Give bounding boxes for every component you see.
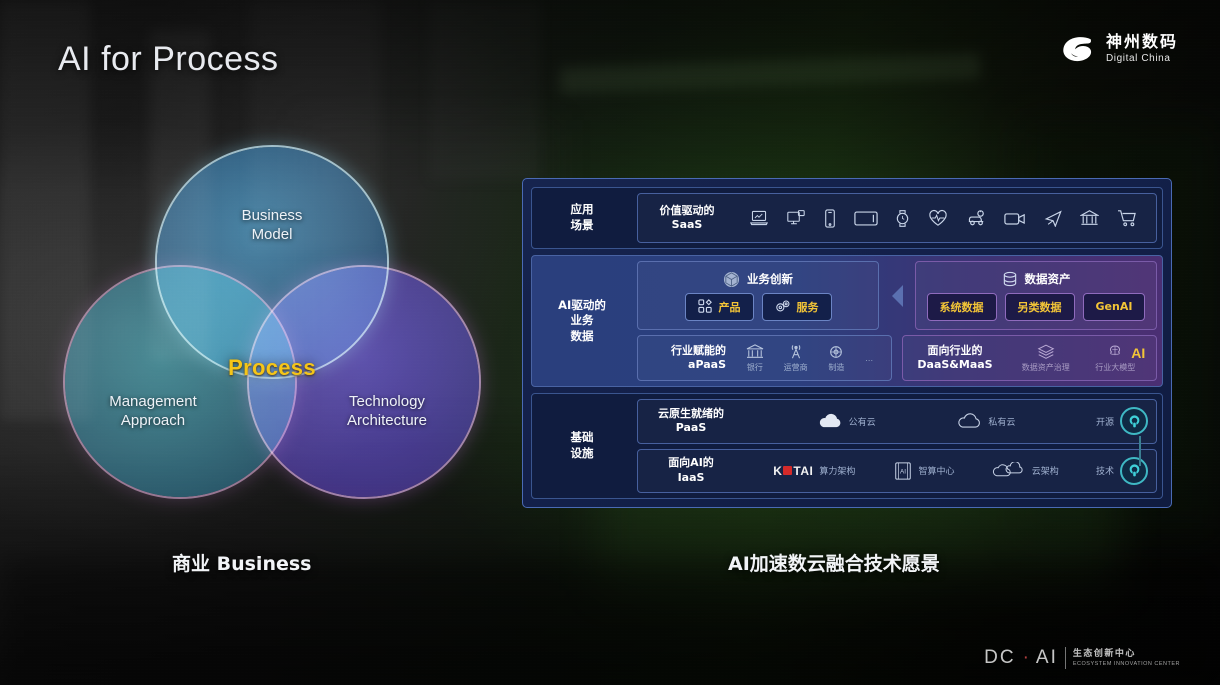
venn-label-technology-architecture: TechnologyArchitecture	[312, 393, 462, 431]
daas-maas-row: 面向行业的 DaaS&MaaS 数据资产治理	[902, 335, 1157, 381]
industry-manufacturing: 制造	[827, 344, 845, 373]
saas-row: 价值驱动的 SaaS	[637, 193, 1157, 243]
open-source-tail: 开源	[1096, 407, 1148, 435]
paas-title: 云原生就绪的 PaaS	[646, 407, 736, 436]
band-label-infrastructure: 基础 设施	[532, 394, 632, 498]
saas-row-title: 价值驱动的 SaaS	[648, 204, 726, 233]
heart-pulse-icon	[928, 209, 948, 227]
svg-text:AI: AI	[900, 468, 906, 475]
smartphone-icon	[824, 209, 836, 228]
ai-rack-icon: AI	[893, 461, 913, 481]
flow-arrow-icon	[889, 261, 905, 330]
caption-business: 商业 Business	[172, 549, 311, 576]
video-camera-icon	[1004, 211, 1026, 226]
band-application-scenarios: 应用 场景 价值驱动的 SaaS	[531, 187, 1163, 249]
industry-telecom: 运营商	[784, 344, 808, 373]
bank-building-icon	[1080, 209, 1099, 227]
gears-icon	[775, 299, 791, 314]
apaas-title: 行业赋能的 aPaaS	[646, 344, 726, 373]
business-innovation-header: 业务创新	[723, 271, 793, 288]
venn-label-process: Process	[192, 355, 352, 381]
footer-dc: DC	[984, 647, 1015, 669]
laptop-chart-icon	[749, 209, 769, 227]
signal-tower-icon	[787, 344, 805, 360]
footer-dot: ·	[1023, 647, 1029, 669]
multi-cloud-icon	[992, 462, 1026, 480]
brand-logo: 神州数码 Digital China	[1061, 34, 1178, 66]
chip-system-data[interactable]: 系统数据	[927, 293, 997, 321]
iaas-title: 面向AI的 IaaS	[646, 456, 736, 485]
openeuler-connector	[1139, 436, 1141, 466]
llm-ai-accent: AI	[1131, 345, 1145, 361]
footer-ai: AI	[1036, 647, 1058, 669]
footer-cn: 生态创新中心	[1073, 649, 1180, 659]
swirl-logo-icon	[1061, 34, 1097, 66]
brand-name-cn: 神州数码	[1106, 35, 1178, 52]
business-innovation-block: 业务创新 产品	[637, 261, 879, 330]
car-vehicle-icon	[966, 209, 987, 227]
desktop-monitor-icon	[786, 209, 806, 227]
kutai-logo-icon: KTAI	[773, 464, 813, 478]
tablet-icon	[854, 210, 878, 227]
iaas-row: 面向AI的 IaaS KTAI 算力架构	[637, 449, 1157, 494]
chip-service[interactable]: 服务	[762, 293, 832, 321]
cloud-filled-icon	[817, 413, 843, 430]
footer-divider	[1065, 647, 1066, 669]
private-cloud-item: 私有云	[956, 413, 1015, 430]
paas-row: 云原生就绪的 PaaS 公有云	[637, 399, 1157, 444]
layers-stack-icon	[1036, 343, 1056, 360]
venn-label-business-model: BusinessModel	[212, 207, 332, 245]
chip-alternative-data[interactable]: 另类数据	[1005, 293, 1075, 321]
apaas-row: 行业赋能的 aPaaS 银行	[637, 335, 892, 381]
manufacturing-gear-icon	[827, 344, 845, 360]
data-assets-header: 数据资产	[1002, 271, 1071, 288]
industry-bank: 银行	[746, 344, 764, 373]
data-assets-block: 数据资产 系统数据 另类数据 GenAI	[915, 261, 1157, 330]
brand-name-en: Digital China	[1106, 54, 1178, 65]
footer-logo: DC · AI 生态创新中心 ECOSYSTEM INNOVATION CENT…	[984, 647, 1180, 669]
open-source-ring-icon	[1120, 407, 1148, 435]
cloud-outline-icon	[956, 413, 982, 430]
data-governance: 数据资产治理	[1022, 343, 1070, 373]
band-infrastructure: 基础 设施 云原生就绪的 PaaS 公有云	[531, 393, 1163, 499]
chip-genai[interactable]: GenAI	[1083, 293, 1146, 321]
chip-product[interactable]: 产品	[685, 293, 754, 321]
open-source-ring-icon	[1120, 457, 1148, 485]
tech-vision-panel: 应用 场景 价值驱动的 SaaS	[522, 178, 1172, 508]
presentation-slide: AI for Process 神州数码 Digital China Busine…	[0, 0, 1220, 685]
shopping-cart-icon	[1117, 209, 1137, 227]
cloud-arch-item: 云架构	[992, 462, 1059, 480]
brain-ai-icon	[1105, 343, 1125, 360]
footer-en: ECOSYSTEM INNOVATION CENTER	[1073, 661, 1180, 667]
band-ai-driven-business-data: AI驱动的 业务 数据 业务创新	[531, 255, 1163, 387]
ellipsis-icon: …	[865, 354, 873, 363]
public-cloud-item: 公有云	[817, 413, 876, 430]
compute-arch-item: KTAI 算力架构	[773, 464, 855, 478]
page-title: AI for Process	[58, 40, 279, 79]
ai-compute-center-item: AI 智算中心	[893, 461, 955, 481]
venn-label-management-approach: ManagementApproach	[78, 393, 228, 431]
smartwatch-icon	[895, 209, 910, 228]
venn-circle-technology-architecture	[249, 267, 479, 497]
band-label-ai-driven-business-data: AI驱动的 业务 数据	[532, 256, 632, 386]
band-label-application-scenarios: 应用 场景	[532, 188, 632, 248]
cube-cluster-icon	[723, 271, 740, 288]
daas-maas-title: 面向行业的 DaaS&MaaS	[911, 344, 999, 373]
caption-tech-vision: AI加速数云融合技术愿景	[728, 549, 940, 576]
airplane-icon	[1044, 209, 1063, 227]
industry-llm: 行业大模型 AI	[1095, 343, 1135, 373]
bank-icon	[746, 344, 764, 360]
database-icon	[1002, 271, 1018, 288]
venn-diagram: BusinessModel ManagementApproach Technol…	[62, 145, 462, 505]
grid-blocks-icon	[698, 299, 713, 314]
